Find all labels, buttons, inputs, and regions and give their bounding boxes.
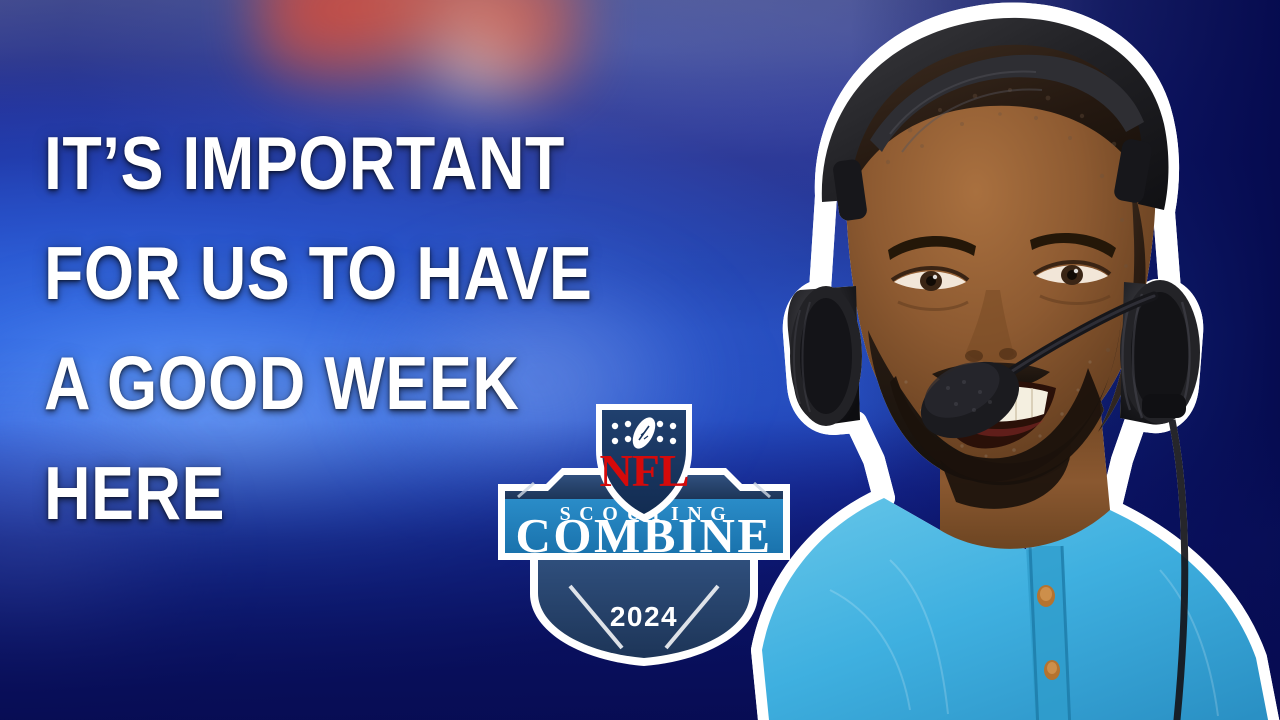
- headline-line-2: FOR US TO HAVE: [44, 218, 577, 328]
- logo-lower-badge: 2024: [530, 548, 758, 666]
- shield-nfl-text: NFL: [600, 445, 689, 496]
- headline-line-1: IT’S IMPORTANT: [44, 108, 577, 218]
- thumbnail-canvas: IT’S IMPORTANT FOR US TO HAVE A GOOD WEE…: [0, 0, 1280, 720]
- logo-year-text: 2024: [610, 601, 678, 632]
- nfl-scouting-combine-logo: 2024 SCOUTING COMBINE: [484, 398, 804, 670]
